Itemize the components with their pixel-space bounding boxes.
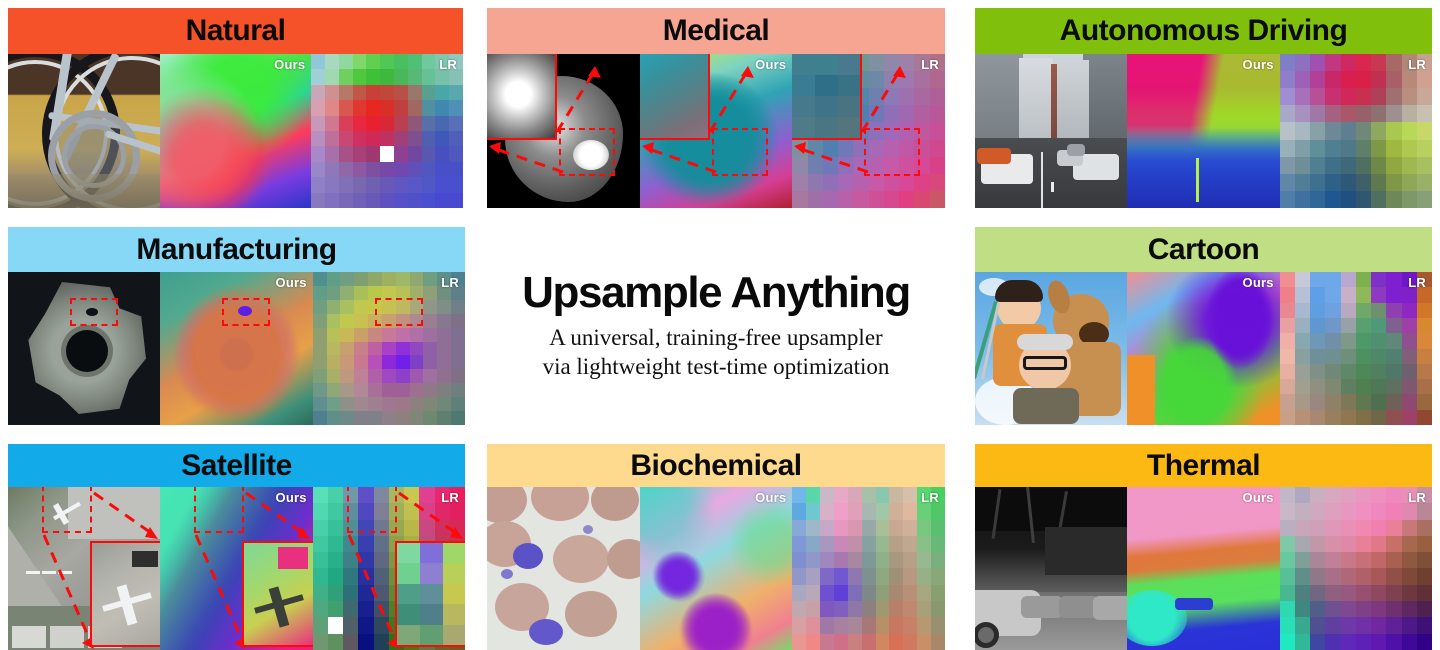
subpanel-medical-lr[interactable]: LR xyxy=(792,54,945,208)
subpanel-label-ours: Ours xyxy=(276,490,307,505)
subpanel-cartoon-ours[interactable]: Ours xyxy=(1127,272,1279,425)
zoom-box-satellite-ours xyxy=(194,487,244,533)
panel-header-thermal: Thermal xyxy=(975,444,1432,487)
subpanel-medical-input[interactable] xyxy=(487,54,640,208)
subpanel-label-lr: LR xyxy=(921,57,939,72)
zoom-box-satellite-lr xyxy=(347,487,397,533)
pixel-grid-medical-inset xyxy=(792,54,860,138)
panel-title-manufacturing: Manufacturing xyxy=(136,233,336,267)
zoom-box-manufacturing-ours xyxy=(222,298,270,326)
subpanel-label-ours: Ours xyxy=(755,490,786,505)
subpanel-cartoon-input[interactable] xyxy=(975,272,1127,425)
panel-body-cartoon: Ours LR xyxy=(975,272,1432,425)
subpanel-biochemical-ours[interactable]: Ours xyxy=(640,487,793,650)
figure-title-block: Upsample Anything A universal, training-… xyxy=(487,227,945,425)
panel-title-satellite: Satellite xyxy=(181,449,292,483)
panel-manufacturing: Manufacturing Ours LR xyxy=(8,227,465,425)
subpanel-biochemical-input[interactable] xyxy=(487,487,640,650)
subpanel-thermal-ours[interactable]: Ours xyxy=(1127,487,1279,650)
panel-biochemical: Biochemical Ours xyxy=(487,444,945,650)
zoom-box-medical-ours xyxy=(712,128,768,176)
subpanel-label-ours: Ours xyxy=(1243,57,1274,72)
figure-title: Upsample Anything xyxy=(522,270,910,317)
subpanel-label-lr: LR xyxy=(1408,490,1426,505)
subpanel-satellite-lr[interactable]: LR xyxy=(313,487,465,650)
panel-body-biochemical: Ours LR xyxy=(487,487,945,650)
panel-header-autonomous-driving: Autonomous Driving xyxy=(975,8,1432,54)
pixel-grid-thermal-lr xyxy=(1280,487,1432,650)
subpanel-thermal-input[interactable] xyxy=(975,487,1127,650)
panel-header-cartoon: Cartoon xyxy=(975,227,1432,272)
subpanel-label-ours: Ours xyxy=(1243,490,1274,505)
panel-header-natural: Natural xyxy=(8,8,463,54)
panel-autonomous-driving: Autonomous Driving xyxy=(975,8,1432,208)
pixel-grid-autonomous-driving-lr xyxy=(1280,54,1432,208)
panel-satellite: Satellite xyxy=(8,444,465,650)
panel-title-thermal: Thermal xyxy=(1147,449,1260,483)
panel-body-autonomous-driving: Ours LR xyxy=(975,54,1432,208)
panel-header-manufacturing: Manufacturing xyxy=(8,227,465,272)
panel-title-biochemical: Biochemical xyxy=(630,449,801,483)
subpanel-label-lr: LR xyxy=(441,490,459,505)
subpanel-satellite-ours[interactable]: Ours xyxy=(160,487,312,650)
zoom-inset-medical-lr xyxy=(792,54,862,140)
figure-subtitle-line2: via lightweight test-time optimization xyxy=(543,353,890,382)
panel-medical: Medical xyxy=(487,8,945,208)
zoom-inset-medical-input xyxy=(487,54,557,140)
subpanel-biochemical-lr[interactable]: LR xyxy=(792,487,945,650)
panel-body-medical: Ours LR xyxy=(487,54,945,208)
subpanel-label-ours: Ours xyxy=(276,275,307,290)
subpanel-label-ours: Ours xyxy=(755,57,786,72)
pixel-grid-cartoon-lr xyxy=(1280,272,1432,425)
zoom-box-satellite-input xyxy=(42,487,92,533)
subpanel-label-ours: Ours xyxy=(274,57,305,72)
zoom-box-manufacturing-input xyxy=(70,298,118,326)
zoom-box-medical-input xyxy=(559,128,615,176)
subpanel-label-lr: LR xyxy=(441,275,459,290)
subpanel-manufacturing-lr[interactable]: LR xyxy=(313,272,465,425)
panel-title-cartoon: Cartoon xyxy=(1148,233,1260,267)
panel-natural: Natural Ours xyxy=(8,8,463,208)
subpanel-manufacturing-ours[interactable]: Ours xyxy=(160,272,312,425)
panel-body-natural: Ours LR xyxy=(8,54,463,208)
zoom-inset-satellite-lr xyxy=(395,541,465,647)
subpanel-natural-lr[interactable]: LR xyxy=(311,54,463,208)
figure-subtitle-line1: A universal, training-free upsampler xyxy=(543,324,890,353)
panel-body-satellite: Ours LR xyxy=(8,487,465,650)
zoom-box-manufacturing-lr xyxy=(375,298,423,326)
subpanel-autonomous-driving-lr[interactable]: LR xyxy=(1280,54,1432,208)
subpanel-manufacturing-input[interactable] xyxy=(8,272,160,425)
subpanel-satellite-input[interactable] xyxy=(8,487,160,650)
panel-header-satellite: Satellite xyxy=(8,444,465,487)
pixel-grid-natural-lr xyxy=(311,54,463,208)
subpanel-natural-ours[interactable]: Ours xyxy=(160,54,312,208)
panel-title-medical: Medical xyxy=(663,14,770,48)
subpanel-medical-ours[interactable]: Ours xyxy=(640,54,793,208)
pixel-grid-satellite-inset xyxy=(397,543,465,645)
subpanel-autonomous-driving-input[interactable] xyxy=(975,54,1127,208)
subpanel-label-lr: LR xyxy=(1408,57,1426,72)
subpanel-natural-input[interactable] xyxy=(8,54,160,208)
subpanel-label-lr: LR xyxy=(921,490,939,505)
panel-header-medical: Medical xyxy=(487,8,945,54)
subpanel-label-lr: LR xyxy=(1408,275,1426,290)
teaser-figure: Natural Ours xyxy=(0,0,1440,650)
pixel-grid-biochemical-lr xyxy=(792,487,945,650)
figure-subtitle: A universal, training-free upsampler via… xyxy=(543,324,890,382)
zoom-inset-medical-ours xyxy=(640,54,710,140)
subpanel-label-ours: Ours xyxy=(1243,275,1274,290)
panel-body-manufacturing: Ours LR xyxy=(8,272,465,425)
zoom-box-medical-lr xyxy=(864,128,920,176)
subpanel-cartoon-lr[interactable]: LR xyxy=(1280,272,1432,425)
panel-title-autonomous-driving: Autonomous Driving xyxy=(1060,14,1348,48)
pixel-grid-manufacturing-lr xyxy=(313,272,465,425)
subpanel-autonomous-driving-ours[interactable]: Ours xyxy=(1127,54,1279,208)
subpanel-label-lr: LR xyxy=(439,57,457,72)
subpanel-thermal-lr[interactable]: LR xyxy=(1280,487,1432,650)
panel-body-thermal: Ours LR xyxy=(975,487,1432,650)
panel-thermal: Thermal Ours xyxy=(975,444,1432,650)
zoom-inset-satellite-input xyxy=(90,541,160,647)
panel-cartoon: Cartoon xyxy=(975,227,1432,425)
zoom-inset-satellite-ours xyxy=(242,541,312,647)
panel-header-biochemical: Biochemical xyxy=(487,444,945,487)
panel-title-natural: Natural xyxy=(186,14,286,48)
